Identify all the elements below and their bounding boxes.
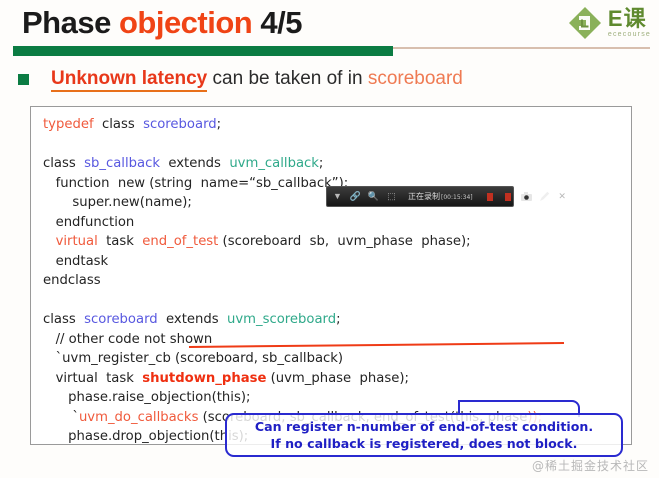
code-line: endclass [43,271,542,291]
diamond-spiral-logo-icon [568,6,602,40]
screen-recorder-toolbar[interactable]: ▼ 🔗 🔍 ⬚ 正在录制[00:15:34] ✕ [326,186,514,207]
code-token: `uvm_register_cb (scoreboard, sb_callbac… [43,351,343,366]
code-token: super.new(name); [43,195,192,210]
code-token: scoreboard [84,312,158,327]
code-token: (uvm_phase phase); [266,371,409,386]
code-token: extends [158,312,227,327]
bullet-line: Unknown latency can be taken of in score… [18,64,463,94]
code-line: typedef class scoreboard; [43,115,542,135]
page-title: Phase objection 4/5 [22,4,302,42]
code-token: ; [336,312,340,327]
close-icon[interactable]: ✕ [555,189,570,204]
callout-line-2: If no callback is registered, does not b… [271,435,578,452]
link-icon[interactable]: 🔗 [348,189,363,204]
code-line: `uvm_register_cb (scoreboard, sb_callbac… [43,349,542,369]
annotation-callout: Can register n-number of end-of-test con… [225,413,623,457]
header-rule-tan [393,47,650,49]
code-token: end_of_test [142,234,218,249]
code-token: extends [160,156,229,171]
code-line: endfunction [43,213,542,233]
code-token: endclass [43,273,101,288]
pause-icon[interactable] [483,189,498,204]
code-token: uvm_do_callbacks [79,410,199,425]
slide-header: Phase objection 4/5 E课 ececourse [0,0,659,46]
code-token: // other code not shown [43,332,212,347]
bullet-soft: scoreboard [368,68,463,89]
header-rule-green [13,46,393,56]
page-title-trail: 4/5 [252,5,302,40]
chevron-down-icon[interactable]: ▼ [330,189,345,204]
brand-logo: E课 ececourse [568,3,651,43]
code-line: virtual task shutdown_phase (uvm_phase p… [43,369,542,389]
code-token: scoreboard [143,117,217,132]
code-token: (scoreboard sb, uvm_phase phase); [218,234,470,249]
code-token: ; [217,117,221,132]
bullet-plain: can be taken of in [207,68,368,89]
code-token [43,234,56,249]
code-token: ` [43,410,79,425]
code-line [43,135,542,155]
code-token: ; [319,156,323,171]
page-title-accent: objection [119,5,252,40]
code-token: shutdown_phase [142,371,266,386]
code-line: virtual task end_of_test (scoreboard sb,… [43,232,542,252]
callout-line-1: Can register n-number of end-of-test con… [255,418,593,435]
code-token: virtual task [43,371,142,386]
brand-tagline: ececourse [608,31,651,38]
code-token: uvm_callback [229,156,319,171]
page-title-lead: Phase [22,5,119,40]
stop-icon[interactable] [501,189,516,204]
code-listing: typedef class scoreboard;class sb_callba… [43,115,542,445]
code-token: endfunction [43,215,134,230]
camera-icon[interactable] [519,189,534,204]
square-bullet-icon [18,74,29,85]
code-token: endtask [43,254,108,269]
code-line: class sb_callback extends uvm_callback; [43,154,542,174]
crop-region-icon[interactable]: ⬚ [384,189,399,204]
code-token: sb_callback [84,156,160,171]
code-token: class [43,312,84,327]
code-line: class scoreboard extends uvm_scoreboard; [43,310,542,330]
brand-logo-text: E课 ececourse [608,8,651,38]
code-token: task [98,234,143,249]
slide-canvas: Phase objection 4/5 E课 ececourse Unknown… [0,0,659,478]
code-token: function new (string name=“sb_callback”)… [43,176,348,191]
code-token: class [94,117,144,132]
code-token: phase.drop_objection(this); [43,429,248,444]
code-token: typedef [43,117,94,132]
pencil-icon[interactable] [537,189,552,204]
code-token: phase.raise_objection(this); [43,390,250,405]
bullet-text: Unknown latency can be taken of in score… [51,67,463,91]
code-token: uvm_scoreboard [227,312,336,327]
code-token: virtual [56,234,98,249]
code-token: class [43,156,84,171]
recording-status-label: 正在录制[00:15:34] [408,191,473,202]
watermark: @稀土掘金技术社区 [532,457,649,474]
code-line [43,291,542,311]
magnifier-icon[interactable]: 🔍 [366,189,381,204]
recording-status-text: 正在录制 [408,192,440,201]
recording-timestamp: [00:15:34] [441,194,473,201]
code-line: endtask [43,252,542,272]
code-panel: typedef class scoreboard;class sb_callba… [30,106,632,445]
bullet-emphasis: Unknown latency [51,68,207,92]
brand-name: E课 [608,8,651,30]
